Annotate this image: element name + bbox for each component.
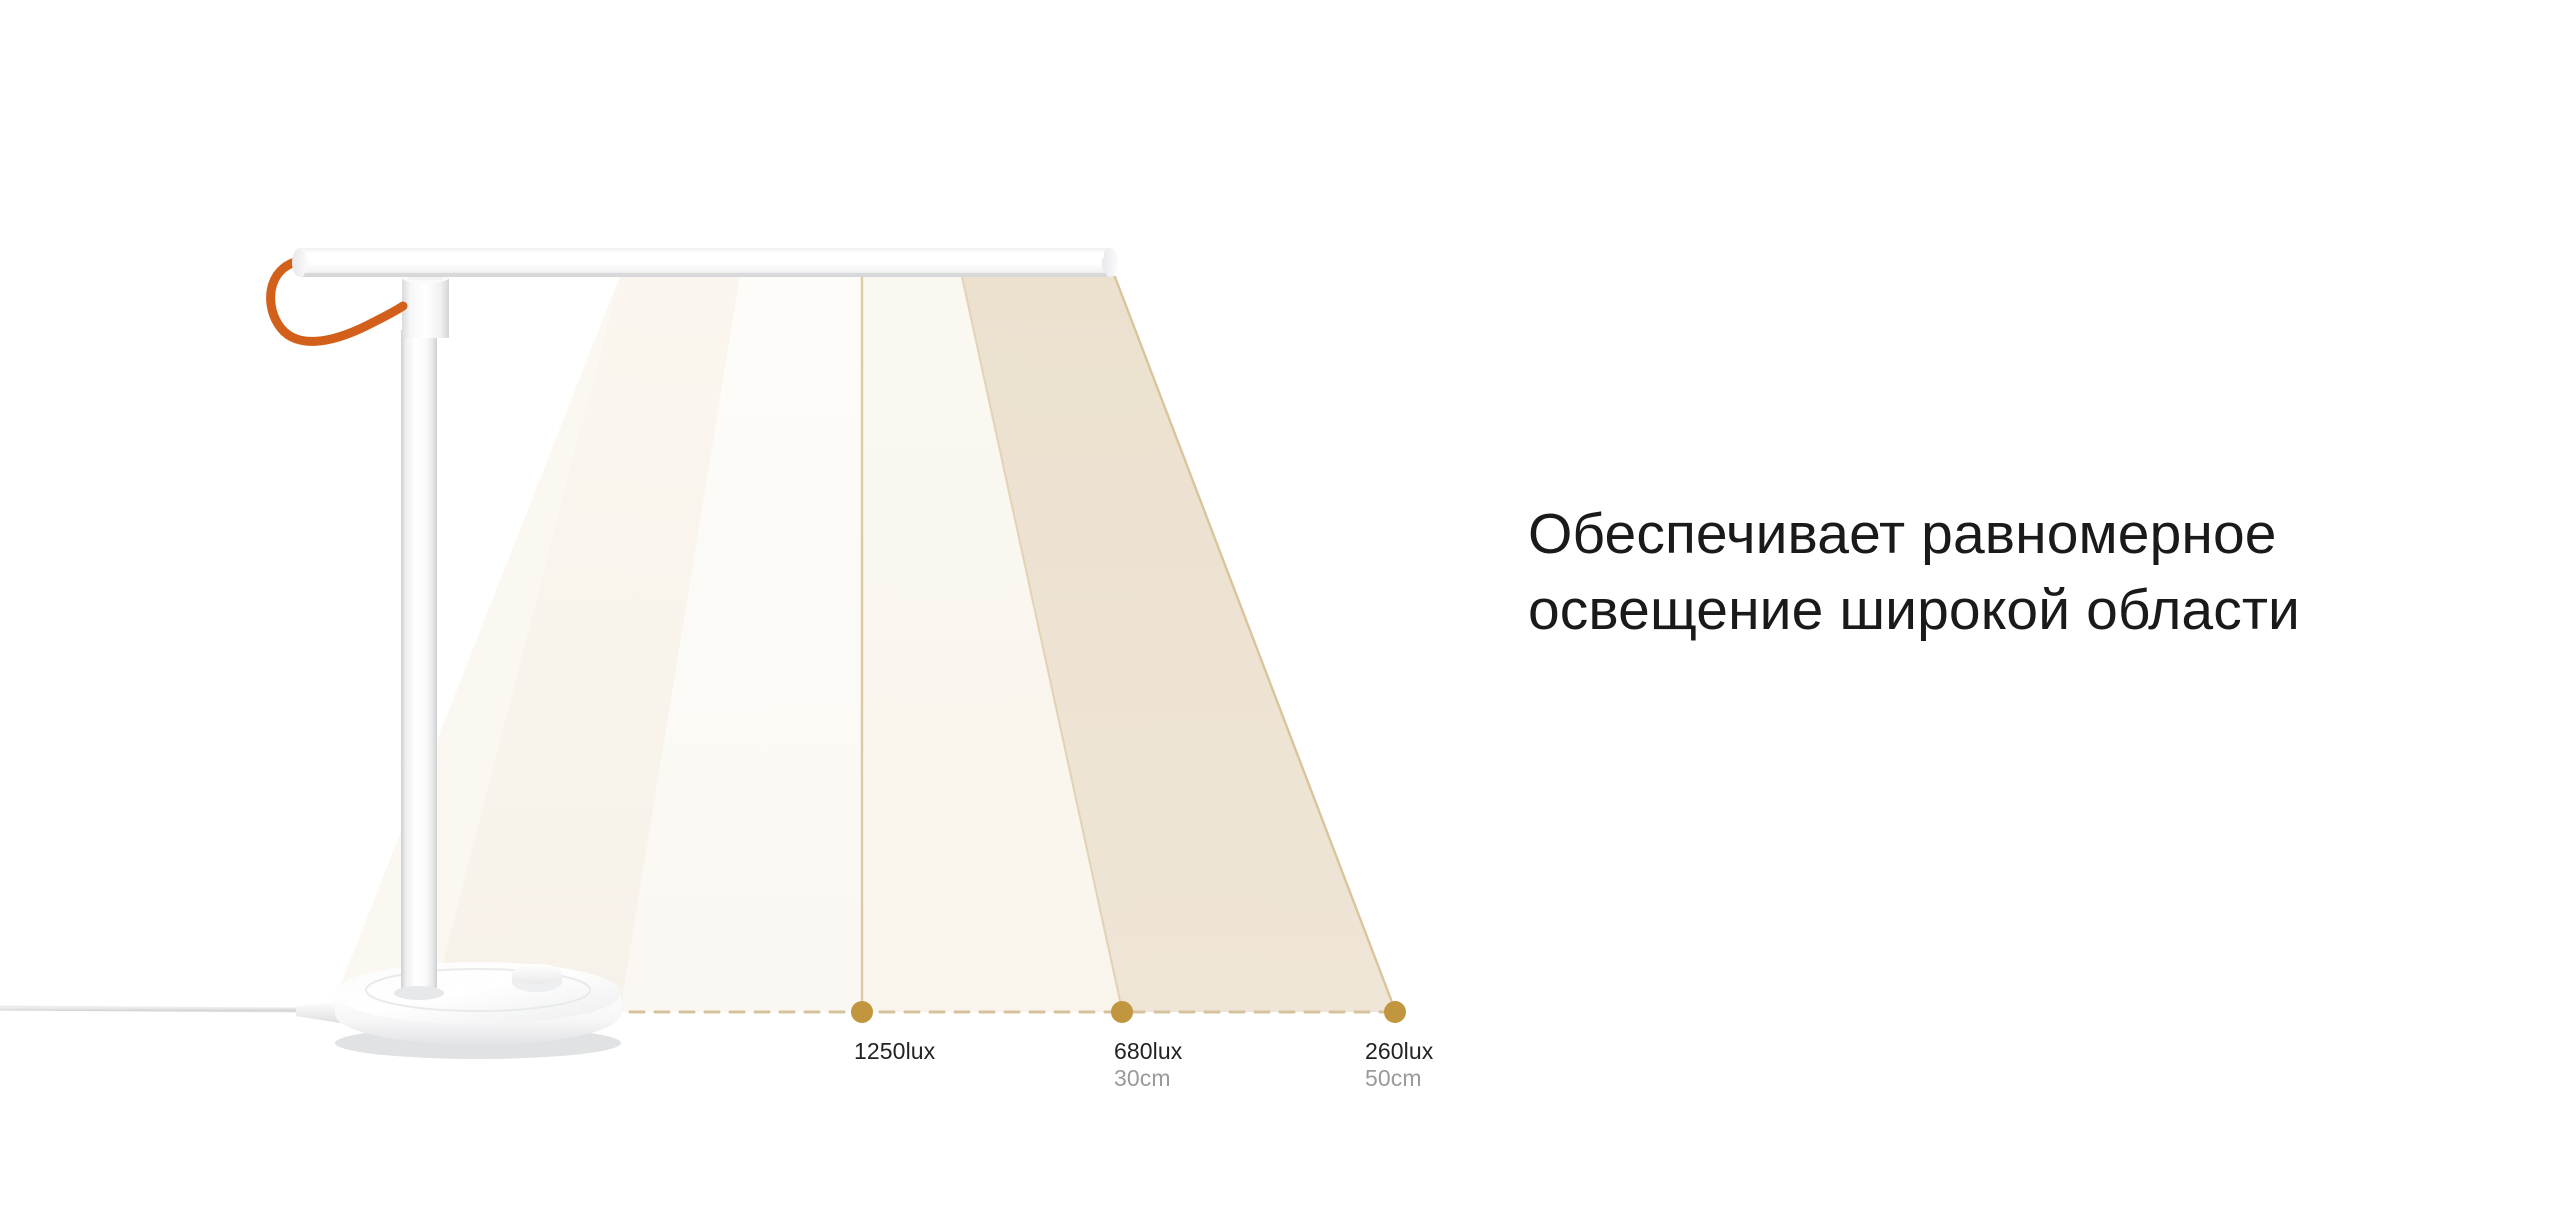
distance-value-1: 30cm — [1114, 1065, 1182, 1092]
distance-value-2: 50cm — [1365, 1065, 1433, 1092]
feature-caption: Обеспечивает равномерное освещение широк… — [1528, 497, 2448, 649]
head-body — [296, 248, 1112, 277]
lux-value-2: 260lux — [1365, 1038, 1433, 1065]
head-underside-shadow — [304, 273, 1106, 277]
marker-dot-1 — [1111, 1001, 1133, 1023]
control-knob[interactable] — [512, 964, 562, 992]
measurement-label-0: 1250lux — [854, 1038, 935, 1065]
marker-dot-2 — [1384, 1001, 1406, 1023]
lamp-base — [335, 962, 621, 1059]
light-beam-cone — [330, 276, 1395, 1012]
measurement-label-1: 680lux 30cm — [1114, 1038, 1182, 1092]
head-cap-left — [292, 248, 308, 277]
stem-base-collar — [394, 986, 444, 1000]
lamp-head — [292, 248, 1118, 277]
marker-dot-0 — [851, 1001, 873, 1023]
stem-shaft — [401, 330, 437, 995]
illustration-stage: 1250lux 680lux 30cm 260lux 50cm Обеспечи… — [0, 0, 2558, 1214]
stem-collar — [402, 278, 449, 338]
head-highlight — [306, 253, 1104, 258]
head-cap-right — [1102, 248, 1118, 277]
base-top — [335, 962, 621, 1024]
lux-value-0: 1250lux — [854, 1038, 935, 1065]
measurement-label-2: 260lux 50cm — [1365, 1038, 1433, 1092]
power-cable — [0, 1001, 368, 1023]
lux-value-1: 680lux — [1114, 1038, 1182, 1065]
